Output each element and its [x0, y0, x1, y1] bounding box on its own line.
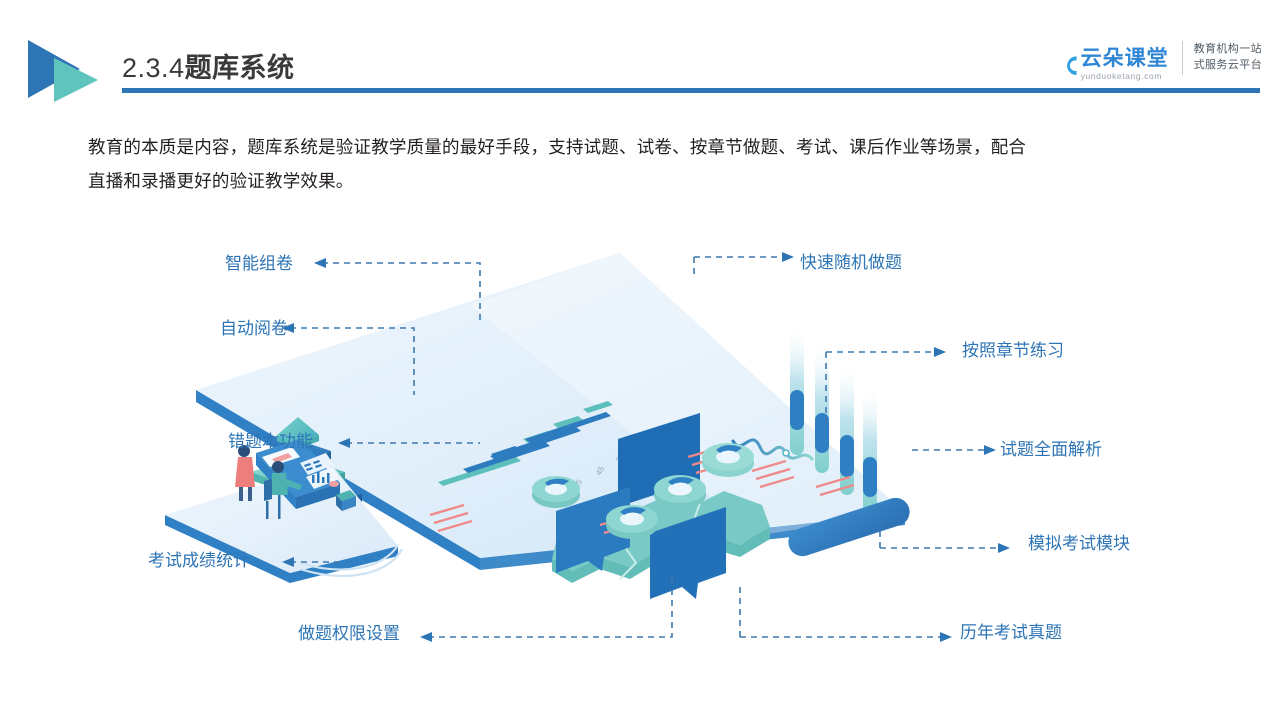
callout-auto-grading[interactable]: 自动阅卷 — [220, 320, 288, 337]
page-title-number: 2.3.4 — [122, 53, 185, 83]
lead-line-2: 直播和录播更好的验证教学效果。 — [88, 164, 1248, 198]
brand-lockup: 云朵课堂 yunduoketang.com 教育机构一站 式服务云平台 — [1051, 34, 1262, 82]
brand-url: yunduoketang.com — [1081, 71, 1162, 81]
lead-paragraph: 教育的本质是内容，题库系统是验证教学质量的最好手段，支持试题、试卷、按章节做题、… — [88, 130, 1248, 198]
callout-mock-exam-module[interactable]: 模拟考试模块 — [1028, 535, 1130, 552]
callout-practice-by-chapter[interactable]: 按照章节练习 — [962, 342, 1064, 359]
page-title-text: 题库系统 — [185, 53, 295, 83]
callout-full-question-analysis[interactable]: 试题全面解析 — [1000, 441, 1102, 458]
double-triangle-play-icon — [24, 36, 110, 104]
slide-root: 2.3.4题库系统 云朵课堂 yunduoketang.com 教育机构一站 式… — [0, 0, 1280, 720]
callout-past-exam-papers[interactable]: 历年考试真题 — [960, 624, 1062, 641]
callout-question-permission-settings[interactable]: 做题权限设置 — [298, 625, 400, 642]
brand-words: 云朵课堂 yunduoketang.com — [1081, 48, 1169, 81]
brand-tagline: 教育机构一站 式服务云平台 — [1194, 42, 1262, 74]
lead-line-1: 教育的本质是内容，题库系统是验证教学质量的最好手段，支持试题、试卷、按章节做题、… — [88, 130, 1248, 164]
page-title: 2.3.4题库系统 — [122, 46, 295, 85]
title-underline — [122, 88, 1260, 93]
callout-exam-score-statistics[interactable]: 考试成绩统计 — [148, 552, 250, 569]
brand-name: 云朵课堂 — [1081, 48, 1169, 70]
brand-divider — [1182, 41, 1183, 75]
line-chart-point — [783, 450, 789, 456]
callout-wrong-question-book[interactable]: 错题本功能 — [228, 433, 313, 450]
brand-logo: 云朵课堂 yunduoketang.com — [1051, 35, 1169, 81]
callout-intelligent-paper-assembly[interactable]: 智能组卷 — [225, 255, 293, 272]
brand-tagline-line1: 教育机构一站 — [1194, 42, 1262, 58]
callout-fast-random-questions[interactable]: 快速随机做题 — [800, 254, 902, 271]
cloud-icon — [1051, 47, 1085, 81]
brand-tagline-line2: 式服务云平台 — [1194, 58, 1262, 74]
